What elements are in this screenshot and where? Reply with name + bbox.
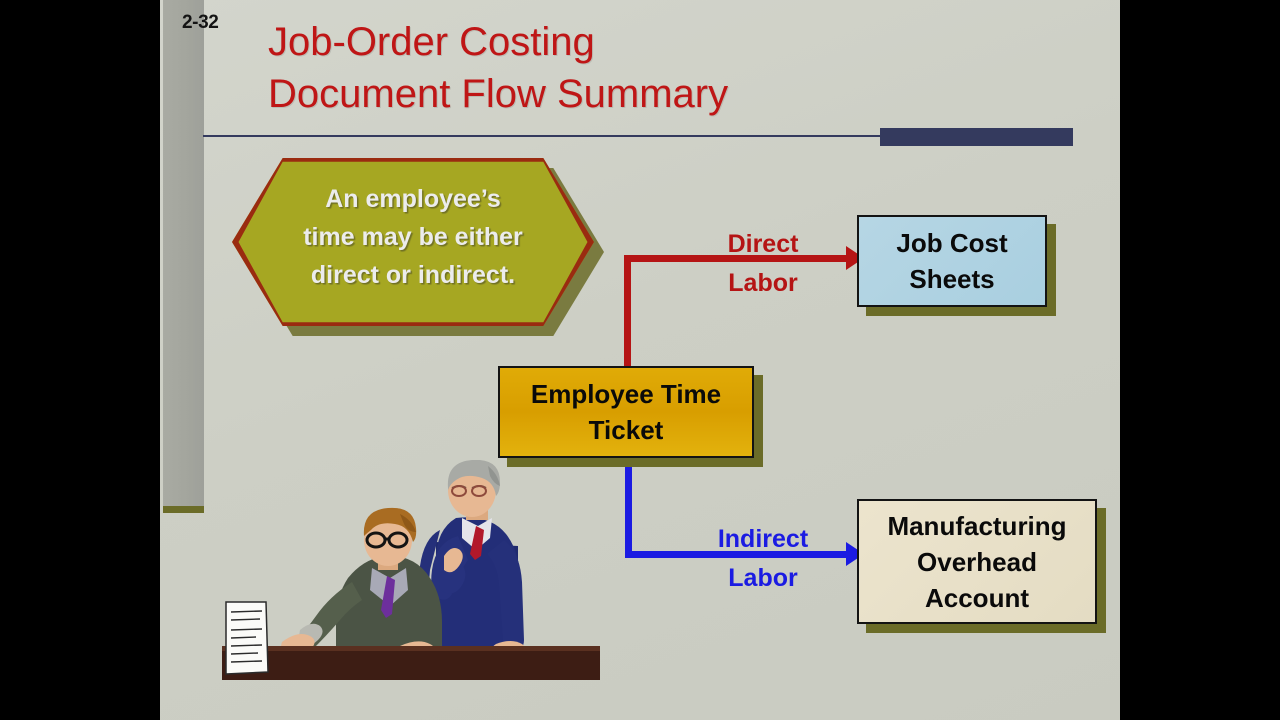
direct-labor-label: Direct Labor [688, 225, 838, 264]
decorative-side-strip-accent [163, 506, 204, 513]
seated-man-figure [281, 508, 442, 662]
callout-hexagon: An employee’s time may be either direct … [232, 158, 604, 336]
title-underline-rule [203, 135, 883, 137]
slide-canvas: 2-32 Job-Order Costing Document Flow Sum… [160, 0, 1120, 720]
direct-labor-arrow-vertical [624, 255, 631, 368]
employee-time-ticket-line-2: Ticket [531, 412, 721, 448]
slide-number: 2-32 [182, 12, 218, 34]
manufacturing-overhead-box: Manufacturing Overhead Account [857, 499, 1097, 624]
employee-time-ticket-line-1: Employee Time [531, 376, 721, 412]
title-line-1: Job-Order Costing [268, 16, 1028, 68]
indirect-labor-label-line-2: Labor [688, 559, 838, 598]
title-line-2: Document Flow Summary [268, 68, 1028, 120]
employee-time-ticket-box-body: Employee Time Ticket [498, 366, 754, 458]
slide-stage: 2-32 Job-Order Costing Document Flow Sum… [0, 0, 1280, 720]
callout-text: An employee’s time may be either direct … [232, 180, 594, 294]
desk-surface [222, 646, 600, 680]
job-cost-sheets-box: Job Cost Sheets [857, 215, 1047, 307]
indirect-labor-label: Indirect Labor [688, 520, 838, 559]
direct-labor-label-line-1: Direct [688, 225, 838, 264]
indirect-labor-arrow-vertical [625, 456, 632, 558]
job-cost-sheets-line-1: Job Cost [896, 225, 1007, 261]
businessmen-clipart-image [200, 460, 620, 720]
job-cost-sheets-line-2: Sheets [896, 261, 1007, 297]
manufacturing-overhead-line-2: Overhead [887, 544, 1066, 580]
callout-line-1: An employee’s [232, 180, 594, 218]
direct-labor-label-line-2: Labor [688, 264, 838, 303]
callout-line-2: time may be either [232, 218, 594, 256]
manufacturing-overhead-line-1: Manufacturing [887, 508, 1066, 544]
employee-time-ticket-box: Employee Time Ticket [498, 366, 754, 458]
indirect-labor-label-line-1: Indirect [688, 520, 838, 559]
page-title: Job-Order Costing Document Flow Summary [268, 16, 1028, 120]
title-accent-bar [880, 128, 1073, 146]
document-sheet [226, 602, 268, 674]
manufacturing-overhead-box-body: Manufacturing Overhead Account [857, 499, 1097, 624]
decorative-side-strip [163, 0, 204, 511]
job-cost-sheets-box-body: Job Cost Sheets [857, 215, 1047, 307]
manufacturing-overhead-line-3: Account [887, 580, 1066, 616]
callout-line-3: direct or indirect. [232, 256, 594, 294]
